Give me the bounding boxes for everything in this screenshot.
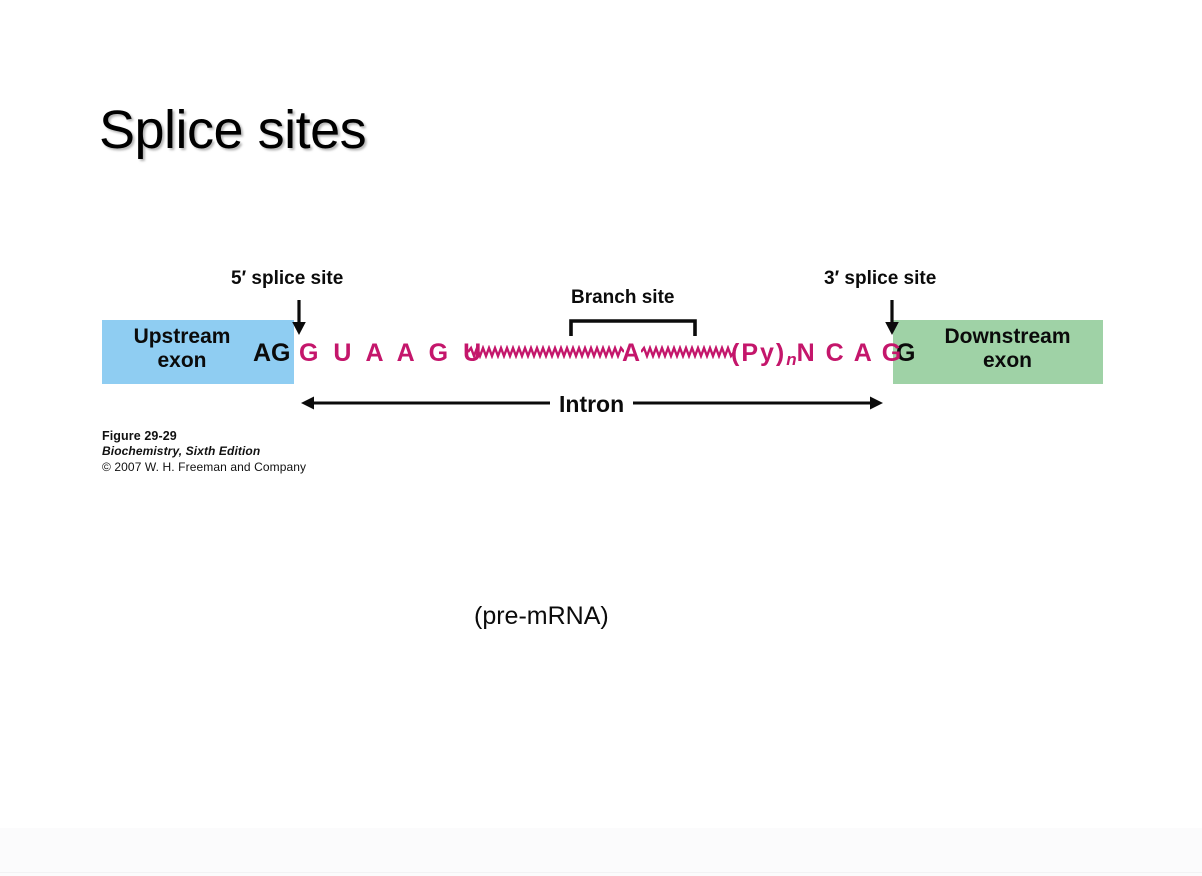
figure-number: Figure 29-29 bbox=[102, 428, 306, 444]
bracket-icon bbox=[569, 318, 697, 338]
arrow-down-icon bbox=[289, 300, 309, 336]
upstream-exon-label-line1: Upstream bbox=[104, 325, 260, 349]
downstream-exon-label-line1: Downstream bbox=[920, 325, 1095, 349]
acceptor-consensus: N C A G bbox=[797, 339, 904, 367]
copyright-notice: © 2007 W. H. Freeman and Company bbox=[102, 460, 306, 476]
figure-credit: Figure 29-29 Biochemistry, Sixth Edition… bbox=[102, 428, 306, 475]
intron-label: Intron bbox=[550, 391, 633, 418]
polypyrimidine-tract-subscript: n bbox=[786, 350, 796, 369]
three-prime-splice-site-label: 3′ splice site bbox=[824, 268, 936, 290]
polypyrimidine-tract-label: (Py) bbox=[731, 339, 786, 367]
upstream-exon-label-line2: exon bbox=[104, 349, 260, 373]
branch-point-adenosine: A bbox=[622, 339, 640, 368]
donor-site-sequence: G U A A G U bbox=[299, 339, 485, 368]
acceptor-site-sequence: (Py)nN C A G bbox=[731, 339, 903, 370]
arrow-down-icon bbox=[882, 300, 902, 336]
pre-mrna-caption: (pre-mRNA) bbox=[474, 602, 609, 631]
five-prime-splice-site-label: 5′ splice site bbox=[231, 268, 343, 290]
source-book-title: Biochemistry, Sixth Edition bbox=[102, 444, 306, 460]
upstream-exon-label: Upstream exon bbox=[104, 325, 260, 372]
downstream-exon-label: Downstream exon bbox=[920, 325, 1095, 372]
downstream-exon-label-line2: exon bbox=[920, 349, 1095, 373]
wavy-line-icon bbox=[468, 345, 624, 359]
branch-site-label: Branch site bbox=[571, 287, 674, 309]
slide-canvas: Splice sites Upstream exon Downstream ex… bbox=[0, 0, 1202, 876]
wavy-line-icon bbox=[641, 345, 734, 359]
upstream-exon-nucleotides: AG bbox=[253, 339, 291, 368]
